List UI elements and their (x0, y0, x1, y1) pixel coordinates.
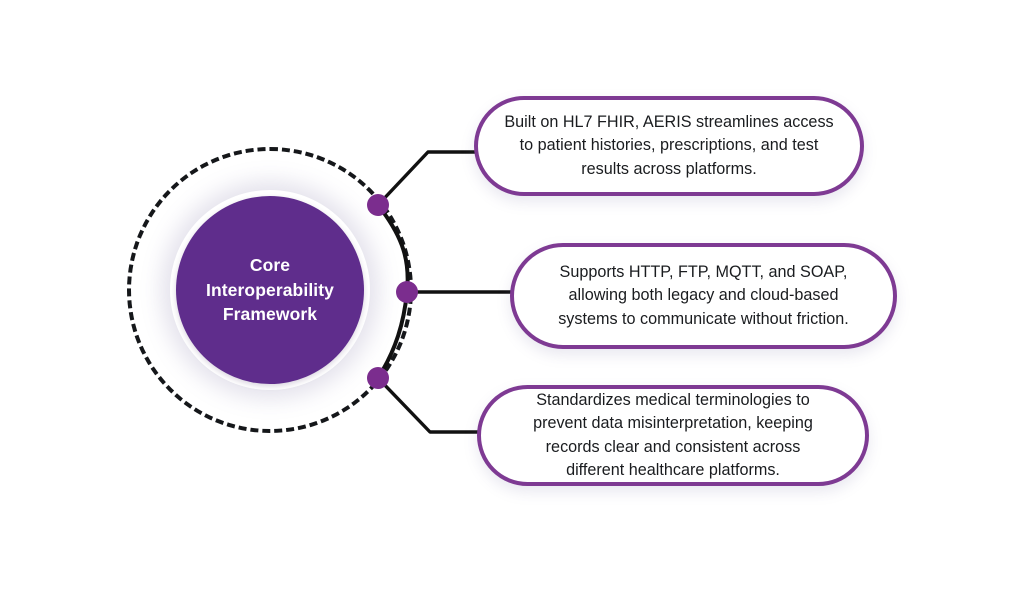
branch-line-1 (378, 152, 478, 205)
diagram-canvas: Core Interoperability Framework Built on… (0, 0, 1024, 597)
connector-dot-1[interactable] (367, 194, 389, 216)
node-card-3-text: Standardizes medical terminologies to pr… (511, 389, 835, 482)
hub-label: Core Interoperability Framework (194, 253, 346, 328)
node-card-2-text: Supports HTTP, FTP, MQTT, and SOAP, allo… (536, 261, 871, 331)
connector-dot-2[interactable] (396, 281, 418, 303)
branch-line-3 (378, 378, 482, 432)
node-card-2[interactable]: Supports HTTP, FTP, MQTT, and SOAP, allo… (510, 243, 897, 349)
node-card-3[interactable]: Standardizes medical terminologies to pr… (477, 385, 869, 486)
node-card-1[interactable]: Built on HL7 FHIR, AERIS streamlines acc… (474, 96, 864, 196)
connector-dot-3[interactable] (367, 367, 389, 389)
node-card-1-text: Built on HL7 FHIR, AERIS streamlines acc… (482, 111, 855, 181)
hub-circle[interactable]: Core Interoperability Framework (176, 196, 364, 384)
